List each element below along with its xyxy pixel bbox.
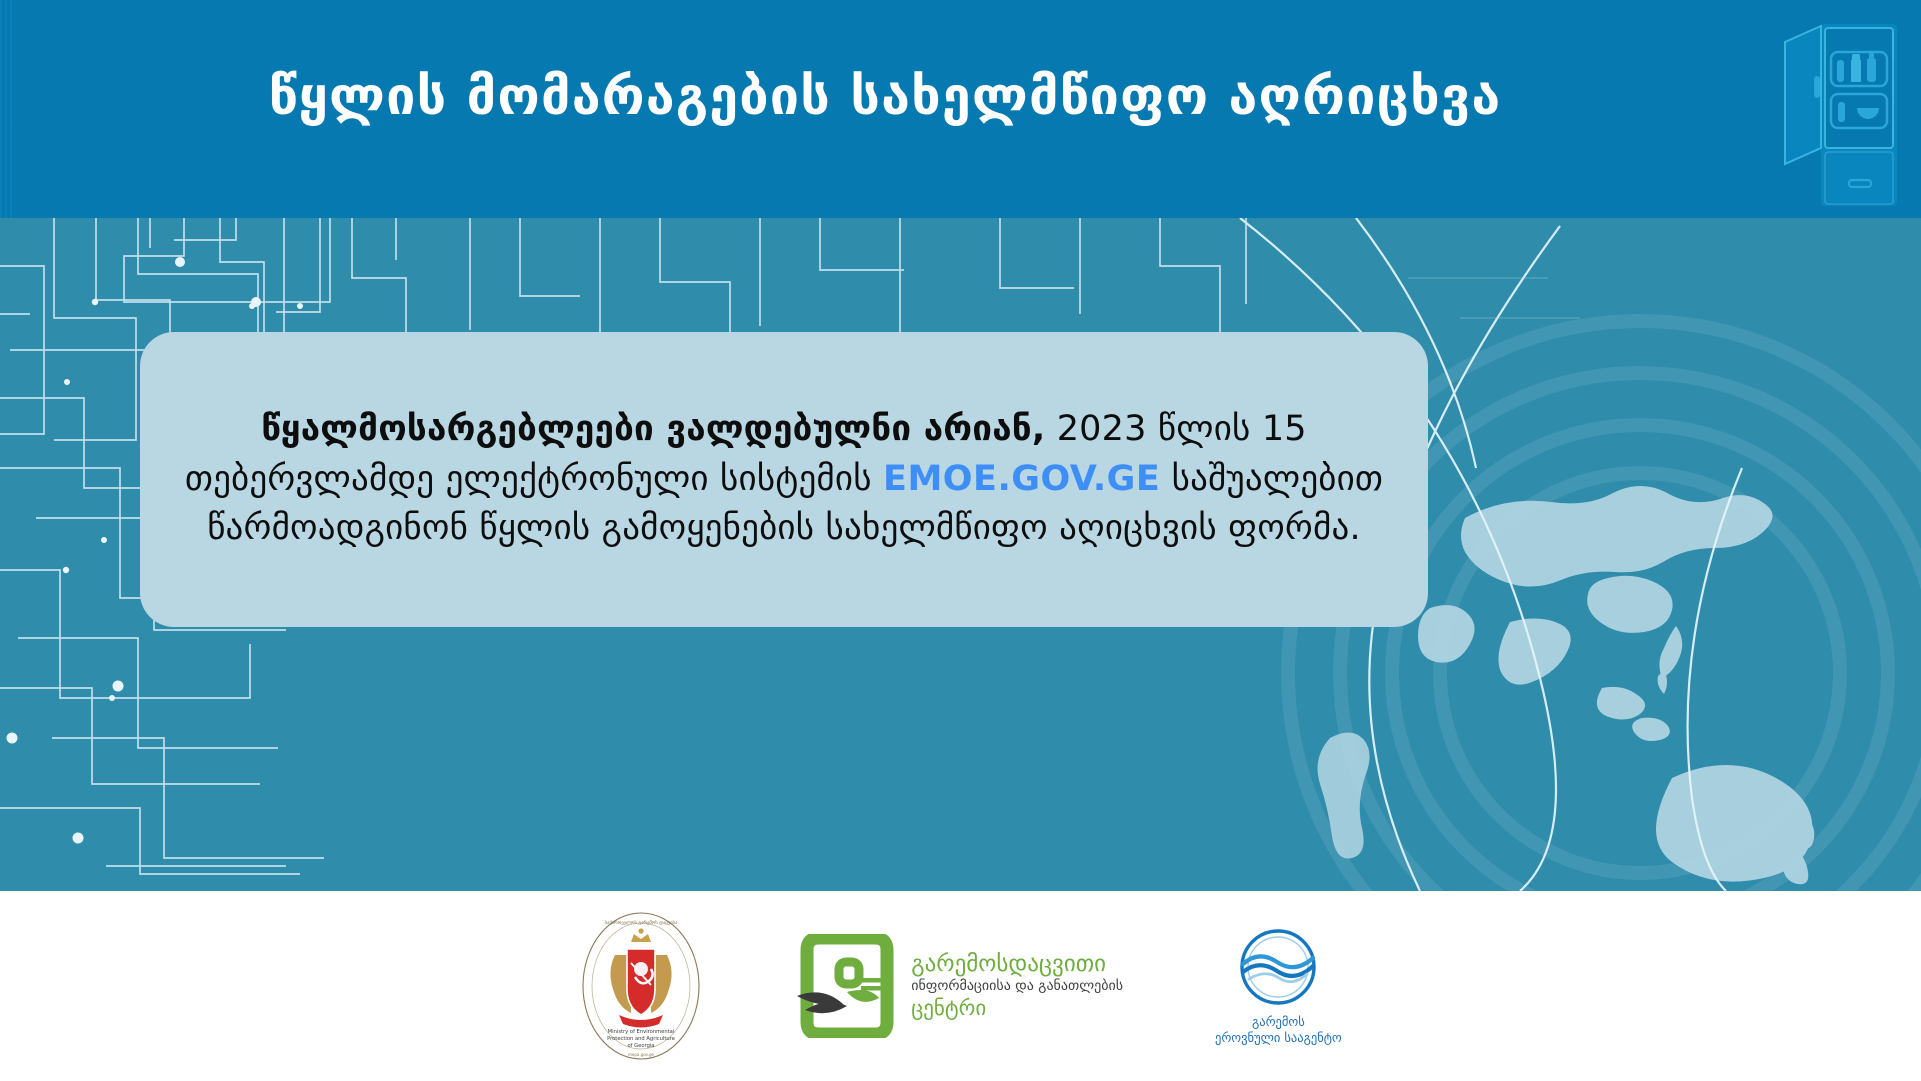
logo-ministry-of-environmental-protection: საქართველოს გარემოს დაცვისა Ministry of … bbox=[579, 911, 703, 1061]
hairline-decoration bbox=[1408, 278, 1580, 318]
announcement-card: წყალმოსარგებლეები ვალდებულნი არიან, 2023… bbox=[140, 332, 1428, 627]
nea-caption: გარემოს ეროვნული სააგენტო bbox=[1215, 1014, 1342, 1045]
nea-caption-line-1: გარემოს bbox=[1215, 1014, 1342, 1030]
emoe-gov-ge-link[interactable]: EMOE.GOV.GE bbox=[883, 459, 1160, 499]
world-map-silhouette bbox=[1418, 486, 1814, 884]
announcement-line4: გამოყენების სახელმწიფო აღიცხვის ფორმა. bbox=[602, 508, 1361, 548]
page-title: წყლის მომარაგების სახელმწიფო აღრიცხვა bbox=[0, 68, 1770, 128]
eiec-word-3: ცენტრი bbox=[911, 997, 1123, 1021]
eiec-wordmark: გარემოსდაცვითი ინფორმაციისა და განათლები… bbox=[911, 952, 1123, 1021]
svg-text:საქართველოს გარემოს დაცვისა: საქართველოს გარემოს დაცვისა bbox=[605, 919, 679, 926]
georgia-state-emblem-icon: საქართველოს გარემოს დაცვისა Ministry of … bbox=[579, 911, 703, 1061]
logo-environmental-information-education-centre: გარემოსდაცვითი ინფორმაციისა და განათლები… bbox=[795, 934, 1123, 1038]
eiec-word-2: ინფორმაციისა და განათლების bbox=[911, 979, 1123, 995]
banner-slide: წყლის მომარაგების სახელმწიფო აღრიცხვა bbox=[0, 0, 1921, 1081]
footer-logo-strip: საქართველოს გარემოს დაცვისა Ministry of … bbox=[0, 891, 1921, 1081]
refrigerator-cabinet-icon bbox=[1783, 14, 1903, 214]
svg-text:Protection and Agriculture: Protection and Agriculture bbox=[607, 1036, 675, 1042]
logo-national-environmental-agency: გარემოს ეროვნული სააგენტო bbox=[1215, 926, 1342, 1045]
announcement-text: წყალმოსარგებლეები ვალდებულნი არიან, 2023… bbox=[169, 405, 1399, 554]
svg-text:of Georgia: of Georgia bbox=[628, 1043, 655, 1049]
announcement-bold-lead: წყალმოსარგებლეები ვალდებულნი არიან, bbox=[261, 409, 1045, 449]
svg-text:mepa.gov.ge: mepa.gov.ge bbox=[628, 1052, 654, 1057]
svg-text:Ministry of Environmental: Ministry of Environmental bbox=[608, 1029, 675, 1035]
eiec-book-leaf-icon bbox=[795, 934, 899, 1038]
header-bar: წყლის მომარაგების სახელმწიფო აღრიცხვა bbox=[0, 0, 1921, 218]
nea-caption-line-2: ეროვნული სააგენტო bbox=[1215, 1030, 1342, 1046]
nea-water-wave-icon bbox=[1237, 926, 1319, 1008]
eiec-word-1: გარემოსდაცვითი bbox=[911, 952, 1123, 978]
announcement-year: 2023 bbox=[1045, 409, 1146, 449]
